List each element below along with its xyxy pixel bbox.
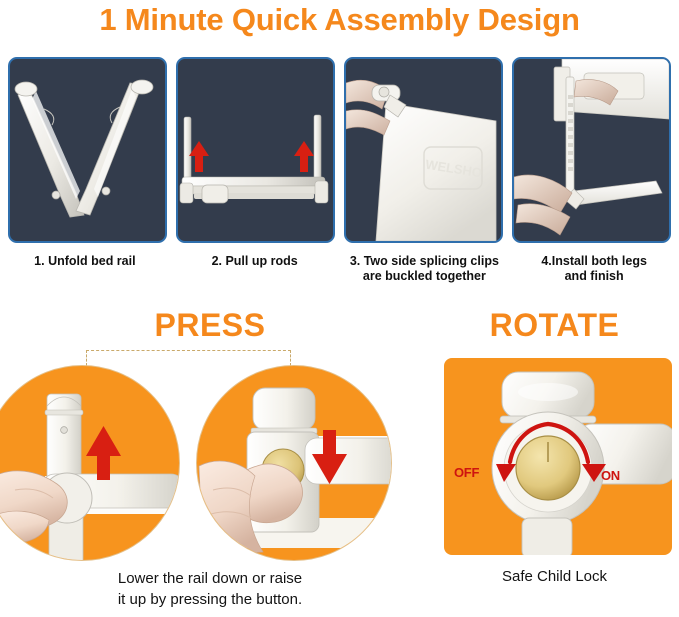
press-section-heading: PRESS <box>0 307 420 344</box>
pull-up-rods-icon <box>178 59 333 241</box>
rotate-label-off: OFF <box>454 465 479 480</box>
red-arrow-up-right <box>294 141 314 172</box>
rotate-section-caption: Safe Child Lock <box>430 568 679 585</box>
press-caption-line2: it up by pressing the button. <box>0 589 420 610</box>
rotate-illustration-panel: OFF ON <box>444 358 672 555</box>
red-arrow-up <box>86 426 121 480</box>
press-section-caption: Lower the rail down or raise it up by pr… <box>0 568 420 610</box>
press-connector-bracket <box>86 350 291 366</box>
press-caption-line1: Lower the rail down or raise <box>118 570 302 587</box>
press-illustration-group <box>0 348 420 563</box>
child-lock-knob-icon <box>444 358 672 555</box>
step-caption-2-line1: 2. Pull up rods <box>212 254 298 268</box>
rotate-label-on: ON <box>601 468 620 483</box>
assembly-steps-row: WELSHO <box>8 57 671 243</box>
step-caption-2: 2. Pull up rods <box>170 254 340 300</box>
step-1-illustration <box>10 59 165 241</box>
press-circle-left <box>0 365 180 561</box>
step-caption-1-line1: 1. Unfold bed rail <box>34 254 135 268</box>
step-caption-3-line1: 3. Two side splicing clips <box>350 254 499 268</box>
step-caption-4: 4.Install both legs and finish <box>509 254 679 300</box>
step-panel-2 <box>176 57 335 243</box>
step-caption-4-line2: and finish <box>513 269 675 284</box>
hand-press-rail-up-icon <box>0 366 180 561</box>
step-caption-3-line2: are buckled together <box>344 269 506 284</box>
thumb-press-button-rail-down-icon <box>197 366 392 561</box>
step-caption-4-line1: 4.Install both legs <box>541 254 647 268</box>
rotate-section-heading: ROTATE <box>430 307 679 344</box>
step-caption-1: 1. Unfold bed rail <box>0 254 170 300</box>
step-4-illustration <box>514 59 669 241</box>
assembly-steps-captions: 1. Unfold bed rail 2. Pull up rods 3. Tw… <box>0 254 679 300</box>
step-caption-3: 3. Two side splicing clips are buckled t… <box>340 254 510 300</box>
step-2-illustration <box>178 59 333 241</box>
buckle-clips-icon: WELSHO <box>346 59 501 241</box>
press-circle-right <box>196 365 392 561</box>
step-panel-3: WELSHO <box>344 57 503 243</box>
step-panel-4 <box>512 57 671 243</box>
step-3-illustration: WELSHO <box>346 59 501 241</box>
install-legs-icon <box>514 59 669 241</box>
page-title: 1 Minute Quick Assembly Design <box>0 2 679 38</box>
step-panel-1 <box>8 57 167 243</box>
folded-bed-rail-icon <box>10 59 165 241</box>
red-arrow-up-left <box>189 141 209 172</box>
